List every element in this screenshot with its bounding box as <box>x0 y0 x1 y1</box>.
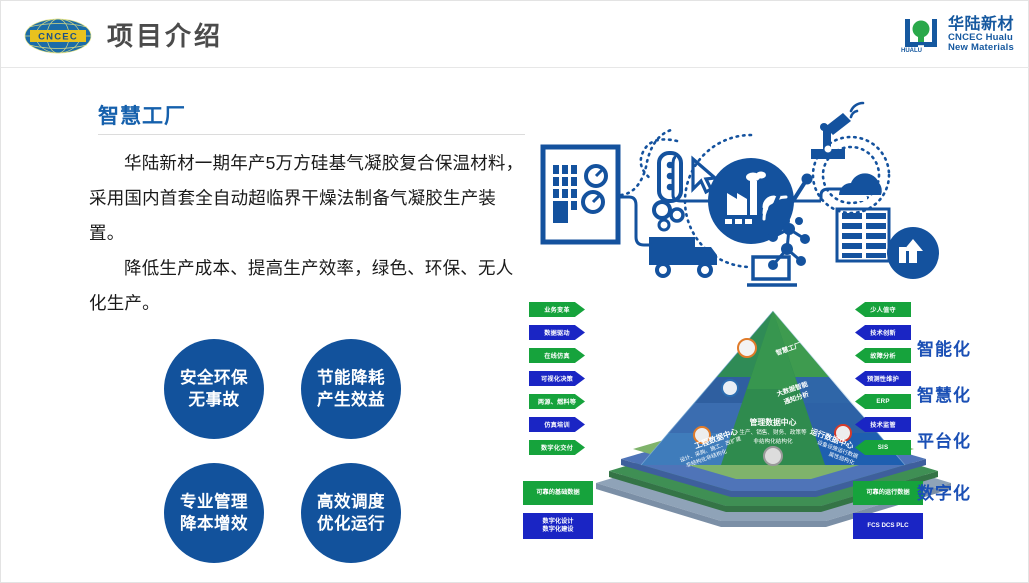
left-box-2-line2: 数字化建设 <box>543 526 574 534</box>
pyramid-center-line2: 生产、销售、财务、政策等 <box>739 428 807 436</box>
circle-line1: 节能降耗 <box>317 367 385 389</box>
left-box-1: 可靠的基础数据 <box>523 481 593 505</box>
paragraph-2: 降低生产成本、提高生产效率，绿色、环保、无人化生产。 <box>89 251 529 321</box>
robot-arm-icon <box>811 103 863 159</box>
hualu-mark-label: HUALU <box>901 48 922 54</box>
benefit-circle-scheduling: 高效调度 优化运行 <box>301 463 401 563</box>
hualu-cn-name: 华陆新材 <box>948 17 1014 34</box>
cloud-icon <box>839 173 882 201</box>
level-word-3: 平台化 <box>917 427 971 452</box>
left-box-2-line1: 数字化设计 <box>543 518 574 526</box>
page-title: 项目介绍 <box>107 20 223 52</box>
circle-line1: 安全环保 <box>180 367 248 389</box>
dashboard-panel-icon <box>543 147 618 242</box>
header-divider <box>1 67 1029 68</box>
circle-line2: 产生效益 <box>317 389 385 411</box>
left-tag-7: 数字化交付 <box>529 440 585 455</box>
hualu-logo: HUALU 华陆新材 CNCEC Hualu New Materials <box>901 15 1014 55</box>
cncec-logo: CNCEC <box>19 18 97 54</box>
right-box-2-line1: FCS DCS PLC <box>867 522 908 530</box>
level-word-1: 智能化 <box>917 335 971 360</box>
left-tag-4: 可视化决策 <box>529 371 585 386</box>
circle-line1: 专业管理 <box>180 491 248 513</box>
right-tag-4: 预测性维护 <box>855 371 911 386</box>
section-divider <box>98 134 525 135</box>
gears-icon <box>654 202 683 230</box>
right-tag-3: 故障分析 <box>855 348 911 363</box>
paragraph-1: 华陆新材一期年产5万方硅基气凝胶复合保温材料，采用国内首套全自动超临界干燥法制备… <box>89 146 529 251</box>
circle-line2: 无事故 <box>189 389 240 411</box>
right-box-2: FCS DCS PLC <box>853 513 923 539</box>
right-tag-1: 少人值守 <box>855 302 911 317</box>
hualu-en-line2: New Materials <box>948 43 1014 53</box>
circle-line2: 降本增效 <box>180 513 248 535</box>
right-box-1-line1: 可靠的运行数据 <box>866 489 909 497</box>
left-tag-3: 在线仿真 <box>529 348 585 363</box>
slide-page: CNCEC 项目介绍 HUALU 华陆新材 CNCEC Hualu New Ma… <box>0 0 1029 583</box>
page-header: CNCEC 项目介绍 HUALU 华陆新材 CNCEC Hualu New Ma… <box>1 1 1029 67</box>
upload-icon <box>887 227 939 279</box>
right-tag-6: 技术监管 <box>855 417 911 432</box>
left-tag-2: 数据驱动 <box>529 325 585 340</box>
cncec-logo-text: CNCEC <box>38 32 78 43</box>
right-tag-2: 技术创新 <box>855 325 911 340</box>
level-word-2: 智慧化 <box>917 381 971 406</box>
maturity-pyramid-diagram: 智慧工厂 大数据智能 通知分析 管理数据中心 生产、销售、财务、政策等 非结构化… <box>521 293 1026 545</box>
benefit-circle-energy: 节能降耗 产生效益 <box>301 339 401 439</box>
pyramid-center-title: 管理数据中心 <box>750 417 797 427</box>
server-rack-icon <box>837 209 889 261</box>
benefit-circle-safety: 安全环保 无事故 <box>164 339 264 439</box>
left-box-2: 数字化设计 数字化建设 <box>523 513 593 539</box>
benefit-circle-management: 专业管理 降本增效 <box>164 463 264 563</box>
hualu-mark-icon: HUALU <box>901 15 941 55</box>
circle-line1: 高效调度 <box>317 491 385 513</box>
left-tag-1: 业务变革 <box>529 302 585 317</box>
factory-wifi-icon <box>708 158 794 244</box>
pyramid-center-line3: 非结构化结构化 <box>753 437 793 445</box>
truck-icon <box>649 237 717 276</box>
left-tag-5: 两源、燃料等 <box>529 394 585 409</box>
right-box-1: 可靠的运行数据 <box>853 481 923 505</box>
left-tag-6: 仿真培训 <box>529 417 585 432</box>
circle-line2: 优化运行 <box>317 513 385 535</box>
gauge-icon <box>583 166 606 212</box>
left-box-1-line1: 可靠的基础数据 <box>536 489 579 497</box>
benefit-circles: 安全环保 无事故 节能降耗 产生效益 专业管理 降本增效 高效调度 优化运行 <box>164 339 414 559</box>
right-tag-5: ERP <box>855 394 911 409</box>
section-title: 智慧工厂 <box>98 100 186 130</box>
level-word-4: 数字化 <box>917 479 971 504</box>
status-node-icon <box>659 153 681 201</box>
right-tag-7: SIS <box>855 440 911 455</box>
pyramid-graphic: 智慧工厂 大数据智能 通知分析 管理数据中心 生产、销售、财务、政策等 非结构化… <box>521 293 1026 545</box>
body-copy: 华陆新材一期年产5万方硅基气凝胶复合保温材料，采用国内首套全自动超临界干燥法制备… <box>89 146 529 321</box>
industry40-illustration <box>521 97 1021 292</box>
